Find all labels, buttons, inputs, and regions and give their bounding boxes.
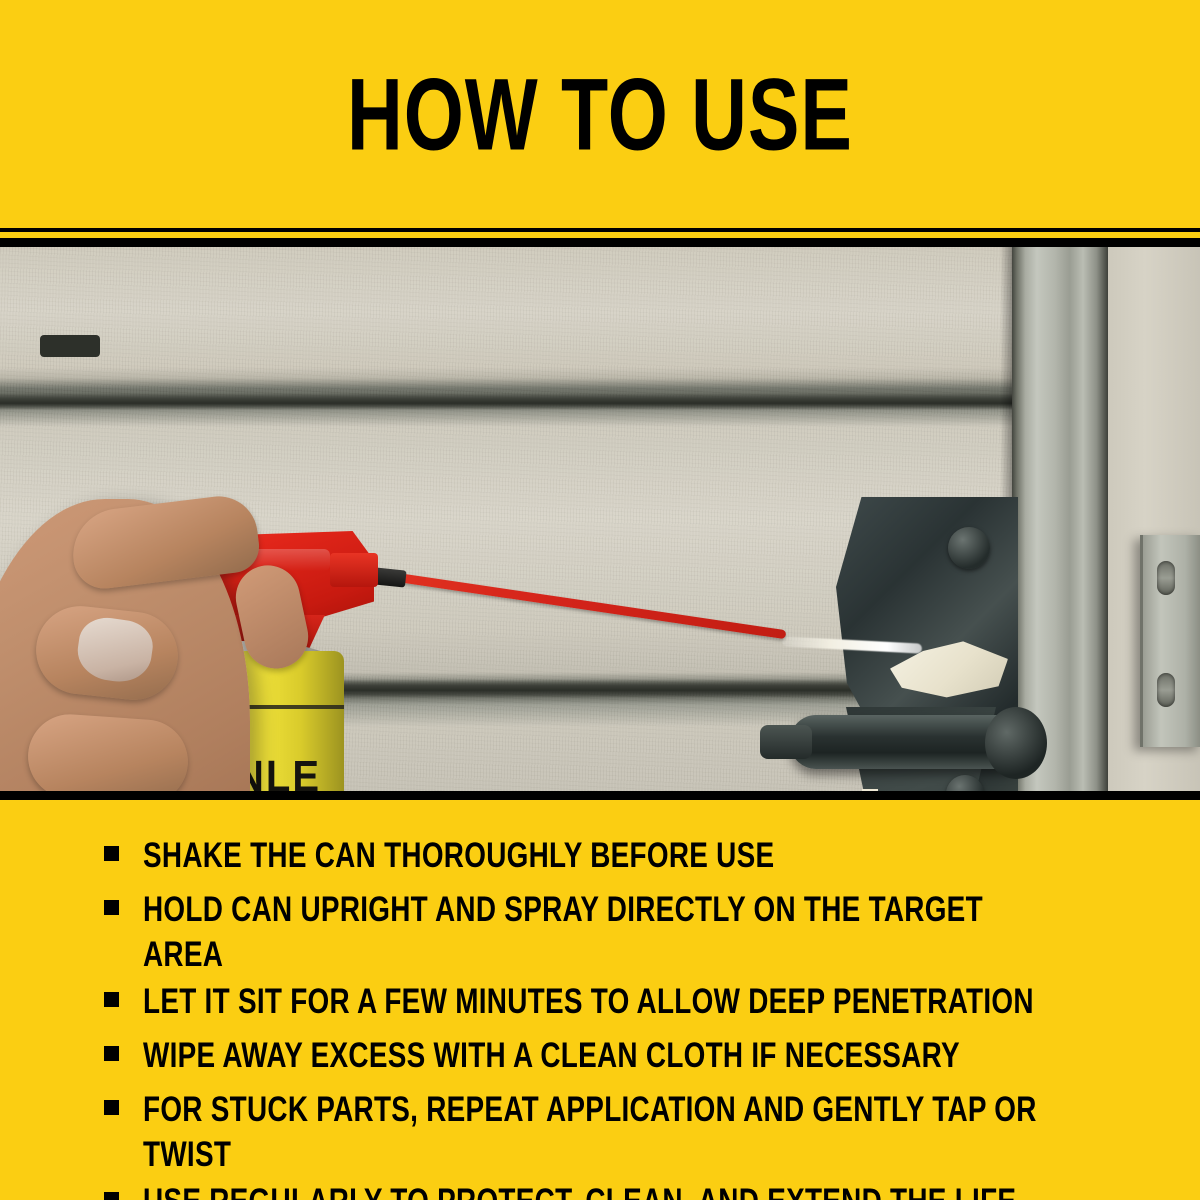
square-bullet-icon bbox=[104, 1100, 119, 1115]
wall-bracket-plate bbox=[1140, 535, 1200, 747]
divider-rule-thick bbox=[0, 238, 1200, 247]
steps-list: SHAKE THE CAN THOROUGHLY BEFORE USE HOLD… bbox=[0, 800, 1200, 1200]
header-banner: HOW TO USE bbox=[0, 0, 1200, 228]
roller-head bbox=[985, 707, 1047, 779]
list-item: FOR STUCK PARTS, REPEAT APPLICATION AND … bbox=[0, 1088, 1200, 1164]
step-text: FOR STUCK PARTS, REPEAT APPLICATION AND … bbox=[143, 1088, 1054, 1178]
list-item: WIPE AWAY EXCESS WITH A CLEAN CLOTH IF N… bbox=[0, 1034, 1200, 1072]
step-text: HOLD CAN UPRIGHT AND SPRAY DIRECTLY ON T… bbox=[143, 888, 1054, 978]
product-usage-photo: STANLE ALL IN ONE Multi Spray Stop squea… bbox=[0, 247, 1200, 792]
hinge-bolt-upper bbox=[948, 527, 990, 569]
roller-shaft-stub bbox=[760, 725, 812, 759]
list-item: USE REGULARLY TO PROTECT, CLEAN, AND EXT… bbox=[0, 1180, 1200, 1200]
page-title: HOW TO USE bbox=[347, 63, 853, 165]
square-bullet-icon bbox=[104, 900, 119, 915]
list-item: SHAKE THE CAN THOROUGHLY BEFORE USE bbox=[0, 834, 1200, 872]
photo-bottom-rule bbox=[0, 791, 1200, 800]
step-text: SHAKE THE CAN THOROUGHLY BEFORE USE bbox=[143, 834, 774, 879]
bracket-hole-top bbox=[1157, 561, 1175, 595]
square-bullet-icon bbox=[104, 1192, 119, 1200]
step-text: LET IT SIT FOR A FEW MINUTES TO ALLOW DE… bbox=[143, 980, 1034, 1025]
step-text: WIPE AWAY EXCESS WITH A CLEAN CLOTH IF N… bbox=[143, 1034, 960, 1079]
how-to-use-poster: HOW TO USE bbox=[0, 0, 1200, 1200]
square-bullet-icon bbox=[104, 846, 119, 861]
list-item: HOLD CAN UPRIGHT AND SPRAY DIRECTLY ON T… bbox=[0, 888, 1200, 964]
square-bullet-icon bbox=[104, 1046, 119, 1061]
step-text: USE REGULARLY TO PROTECT, CLEAN, AND EXT… bbox=[143, 1180, 1054, 1200]
bracket-hole-bottom bbox=[1157, 673, 1175, 707]
square-bullet-icon bbox=[104, 992, 119, 1007]
cap-nozzle bbox=[330, 553, 378, 587]
steps-section: SHAKE THE CAN THOROUGHLY BEFORE USE HOLD… bbox=[0, 800, 1200, 1200]
bracket-slot bbox=[40, 335, 100, 357]
list-item: LET IT SIT FOR A FEW MINUTES TO ALLOW DE… bbox=[0, 980, 1200, 1018]
